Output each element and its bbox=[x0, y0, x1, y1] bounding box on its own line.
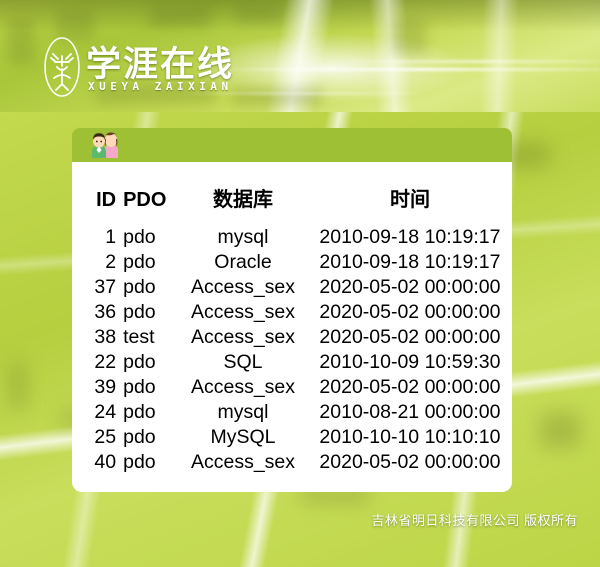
table-row: 36pdoAccess_sex2020-05-02 00:00:00 bbox=[72, 300, 512, 325]
table-row: 22pdoSQL2010-10-09 10:59:30 bbox=[72, 350, 512, 375]
cell-db: mysql bbox=[178, 225, 308, 250]
cell-pdo: pdo bbox=[116, 450, 178, 475]
banner-texture-blotch bbox=[150, 6, 210, 28]
cell-db: MySQL bbox=[178, 425, 308, 450]
cell-pdo: pdo bbox=[116, 425, 178, 450]
cell-db: Access_sex bbox=[178, 275, 308, 300]
cell-db: Oracle bbox=[178, 250, 308, 275]
footer-copyright: 吉林省明日科技有限公司 版权所有 bbox=[371, 510, 578, 529]
cell-time: 2010-09-18 10:19:17 bbox=[308, 225, 512, 250]
cell-db: Access_sex bbox=[178, 300, 308, 325]
logo-emblem-icon bbox=[43, 36, 81, 98]
cell-db: mysql bbox=[178, 400, 308, 425]
cell-id: 22 bbox=[72, 350, 116, 375]
table-body: 1pdomysql2010-09-18 10:19:172pdoOracle20… bbox=[72, 225, 512, 475]
cell-id: 25 bbox=[72, 425, 116, 450]
cell-time: 2010-10-10 10:10:10 bbox=[308, 425, 512, 450]
table-row: 37pdoAccess_sex2020-05-02 00:00:00 bbox=[72, 275, 512, 300]
table-header-row: ID PDO 数据库 时间 bbox=[72, 162, 512, 225]
cell-id: 36 bbox=[72, 300, 116, 325]
cell-time: 2010-08-21 00:00:00 bbox=[308, 400, 512, 425]
cell-id: 40 bbox=[72, 450, 116, 475]
cell-id: 37 bbox=[72, 275, 116, 300]
cell-id: 2 bbox=[72, 250, 116, 275]
panel-header-bar bbox=[72, 128, 512, 162]
records-table: ID PDO 数据库 时间 1pdomysql2010-09-18 10:19:… bbox=[72, 162, 512, 475]
background-texture bbox=[540, 412, 580, 448]
banner-light-streak bbox=[210, 68, 600, 71]
cell-time: 2020-05-02 00:00:00 bbox=[308, 300, 512, 325]
cell-id: 24 bbox=[72, 400, 116, 425]
cell-pdo: pdo bbox=[116, 375, 178, 400]
cell-time: 2010-10-09 10:59:30 bbox=[308, 350, 512, 375]
cell-time: 2020-05-02 00:00:00 bbox=[308, 275, 512, 300]
panel-body: ID PDO 数据库 时间 1pdomysql2010-09-18 10:19:… bbox=[72, 162, 512, 492]
cell-id: 1 bbox=[72, 225, 116, 250]
cell-time: 2010-09-18 10:19:17 bbox=[308, 250, 512, 275]
page-root: 学涯在线 XUEYA ZAIXIAN bbox=[0, 0, 600, 567]
site-banner: 学涯在线 XUEYA ZAIXIAN bbox=[0, 0, 600, 112]
banner-texture-blotch bbox=[236, 4, 282, 24]
table-row: 40pdoAccess_sex2020-05-02 00:00:00 bbox=[72, 450, 512, 475]
column-header-id: ID bbox=[72, 162, 116, 225]
cell-pdo: pdo bbox=[116, 250, 178, 275]
cell-pdo: pdo bbox=[116, 275, 178, 300]
column-header-pdo: PDO bbox=[116, 162, 178, 225]
cell-time: 2020-05-02 00:00:00 bbox=[308, 325, 512, 350]
cell-db: Access_sex bbox=[178, 450, 308, 475]
cell-time: 2020-05-02 00:00:00 bbox=[308, 450, 512, 475]
table-row: 1pdomysql2010-09-18 10:19:17 bbox=[72, 225, 512, 250]
content-panel: ID PDO 数据库 时间 1pdomysql2010-09-18 10:19:… bbox=[72, 128, 512, 492]
cell-pdo: pdo bbox=[116, 300, 178, 325]
table-row: 39pdoAccess_sex2020-05-02 00:00:00 bbox=[72, 375, 512, 400]
cell-db: Access_sex bbox=[178, 375, 308, 400]
cell-pdo: pdo bbox=[116, 350, 178, 375]
brand-title-en: XUEYA ZAIXIAN bbox=[88, 80, 233, 93]
cell-pdo: pdo bbox=[116, 400, 178, 425]
column-header-db: 数据库 bbox=[178, 162, 308, 225]
cell-id: 38 bbox=[72, 325, 116, 350]
two-people-icon bbox=[90, 131, 120, 159]
table-row: 24pdomysql2010-08-21 00:00:00 bbox=[72, 400, 512, 425]
cell-id: 39 bbox=[72, 375, 116, 400]
cell-db: SQL bbox=[178, 350, 308, 375]
table-row: 38testAccess_sex2020-05-02 00:00:00 bbox=[72, 325, 512, 350]
background-texture bbox=[10, 362, 26, 410]
table-row: 2pdoOracle2010-09-18 10:19:17 bbox=[72, 250, 512, 275]
column-header-time: 时间 bbox=[308, 162, 512, 225]
banner-texture-blotch bbox=[392, 20, 426, 54]
banner-texture-blotch bbox=[232, 88, 322, 106]
cell-pdo: test bbox=[116, 325, 178, 350]
banner-texture-blotch bbox=[8, 18, 34, 64]
cell-pdo: pdo bbox=[116, 225, 178, 250]
banner-light-streak bbox=[330, 60, 600, 63]
table-head: ID PDO 数据库 时间 bbox=[72, 162, 512, 225]
cell-time: 2020-05-02 00:00:00 bbox=[308, 375, 512, 400]
cell-db: Access_sex bbox=[178, 325, 308, 350]
table-row: 25pdoMySQL2010-10-10 10:10:10 bbox=[72, 425, 512, 450]
